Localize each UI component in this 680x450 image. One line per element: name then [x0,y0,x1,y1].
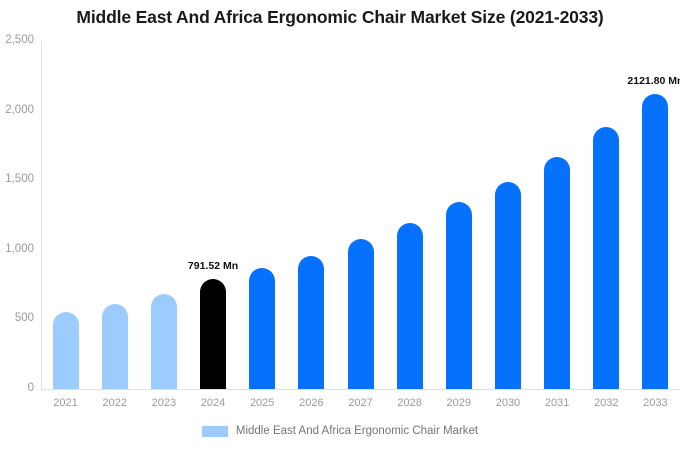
x-tick-label: 2026 [286,398,336,409]
bar[interactable] [53,312,79,389]
bar[interactable] [200,279,226,389]
x-axis-line [41,389,680,390]
chart-container: Middle East And Africa Ergonomic Chair M… [0,0,680,450]
x-tick-label: 2032 [581,398,631,409]
x-tick-label: 2028 [385,398,435,409]
x-tick-label: 2031 [532,398,582,409]
x-tick-label: 2029 [434,398,484,409]
bar[interactable] [249,268,275,389]
x-tick-label: 2030 [483,398,533,409]
x-tick-label: 2022 [90,398,140,409]
x-tick-label: 2021 [41,398,91,409]
x-tick-label: 2023 [139,398,189,409]
bar[interactable] [151,294,177,389]
bar-value-label: 2121.80 Mn [622,76,680,87]
bar[interactable] [593,127,619,389]
bar[interactable] [298,256,324,389]
bar[interactable] [642,94,668,389]
y-tick-label: 500 [0,313,34,325]
x-tick-label: 2024 [188,398,238,409]
x-tick-label: 2025 [237,398,287,409]
y-tick-label: 0 [0,383,34,395]
legend-label: Middle East And Africa Ergonomic Chair M… [236,425,478,437]
bar[interactable] [348,239,374,389]
y-tick-label: 1,000 [0,244,34,256]
chart-title: Middle East And Africa Ergonomic Chair M… [0,7,680,28]
bar[interactable] [446,202,472,389]
bar-value-label: 791.52 Mn [180,261,246,272]
x-tick-label: 2027 [336,398,386,409]
bar[interactable] [495,182,521,389]
chart-legend[interactable]: Middle East And Africa Ergonomic Chair M… [0,425,680,437]
plot-area [41,41,680,389]
y-tick-label: 2,000 [0,105,34,117]
legend-swatch-icon [202,426,228,437]
y-tick-label: 2,500 [0,35,34,47]
y-tick-label: 1,500 [0,174,34,186]
bar[interactable] [397,223,423,389]
bar[interactable] [544,157,570,389]
bar[interactable] [102,304,128,389]
x-tick-label: 2033 [630,398,680,409]
